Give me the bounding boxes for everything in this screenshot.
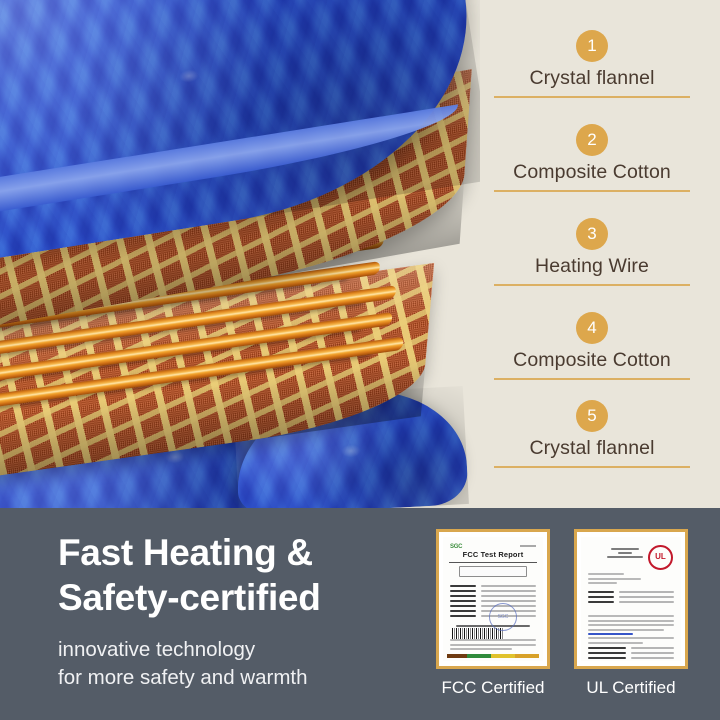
legend-rule-3	[494, 284, 690, 286]
sgc-logo-icon: SGC	[450, 544, 462, 550]
legend-label-3: Heating Wire	[494, 255, 690, 284]
legend-label-5: Crystal flannel	[494, 437, 690, 466]
certificate-ul-body	[588, 613, 674, 646]
ul-roundel-icon: UL	[648, 545, 673, 570]
certificate-ul-heading	[601, 546, 649, 560]
legend-badge-5: 5	[576, 400, 608, 432]
certificate-ul-fields	[588, 591, 674, 606]
legend-item-2: 2 Composite Cotton	[494, 124, 690, 192]
certification-stamp-icon: SGC	[489, 603, 517, 631]
legend-badge-4: 4	[576, 312, 608, 344]
certificate-fcc-thumbnail[interactable]: SGC FCC Test Report	[436, 529, 550, 669]
product-layer-illustration	[0, 0, 480, 510]
divider	[449, 562, 537, 563]
page-number-mark	[520, 545, 536, 547]
certificate-ul-page: UL	[581, 537, 681, 661]
legend-badge-2: 2	[576, 124, 608, 156]
legend-item-1: 1 Crystal flannel	[494, 30, 690, 98]
layer-legend: 1 Crystal flannel 2 Composite Cotton 3 H…	[480, 0, 720, 508]
certificate-fcc-caption: FCC Certified	[436, 678, 550, 698]
legend-badge-1: 1	[576, 30, 608, 62]
certificate-fcc[interactable]: SGC FCC Test Report	[436, 529, 550, 698]
certificate-gallery: SGC FCC Test Report	[436, 529, 688, 698]
certificate-ul[interactable]: UL	[574, 529, 688, 698]
legend-label-2: Composite Cotton	[494, 161, 690, 190]
legend-rule-4	[494, 378, 690, 380]
certificate-ul-link	[588, 633, 633, 635]
certificate-fcc-title: FCC Test Report	[443, 550, 543, 559]
product-infographic: 1 Crystal flannel 2 Composite Cotton 3 H…	[0, 0, 720, 720]
certificate-footer-bar	[447, 654, 539, 658]
legend-item-4: 4 Composite Cotton	[494, 312, 690, 380]
certificate-ul-caption: UL Certified	[574, 678, 688, 698]
banner-copy: Fast Heating & Safety-certified innovati…	[58, 530, 418, 692]
legend-rule-5	[494, 466, 690, 468]
legend-item-3: 3 Heating Wire	[494, 218, 690, 286]
legend-badge-3: 3	[576, 218, 608, 250]
banner-subcopy: innovative technology for more safety an…	[58, 636, 418, 692]
certificate-ul-address	[588, 571, 674, 587]
legend-label-1: Crystal flannel	[494, 67, 690, 96]
legend-rule-2	[494, 190, 690, 192]
feature-banner: Fast Heating & Safety-certified innovati…	[0, 508, 720, 720]
certificate-ul-thumbnail[interactable]: UL	[574, 529, 688, 669]
legend-label-4: Composite Cotton	[494, 349, 690, 378]
certificate-fcc-notes	[450, 637, 536, 653]
report-number-box	[459, 566, 527, 577]
certificate-ul-signature-block	[588, 647, 674, 662]
certificate-fcc-page: SGC FCC Test Report	[443, 537, 543, 661]
legend-item-5: 5 Crystal flannel	[494, 400, 690, 468]
banner-headline: Fast Heating & Safety-certified	[58, 530, 418, 620]
legend-rule-1	[494, 96, 690, 98]
